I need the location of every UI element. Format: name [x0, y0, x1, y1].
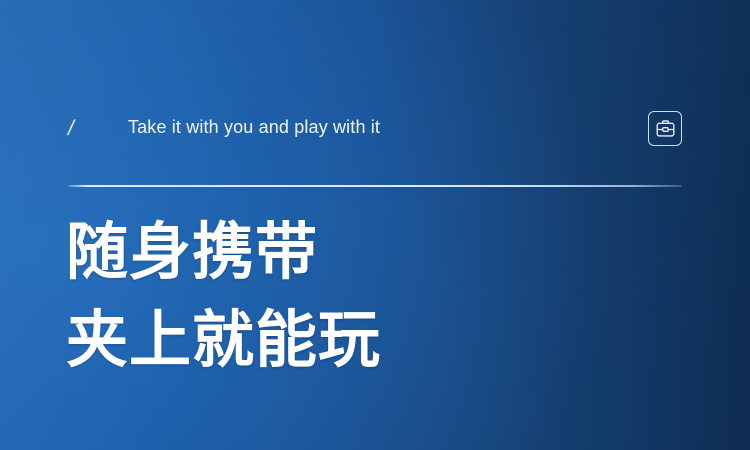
- headline-block: 随身携带 夹上就能玩: [66, 208, 706, 384]
- briefcase-icon: [655, 119, 676, 138]
- briefcase-icon-badge: [648, 111, 682, 146]
- slash-divider-mark: /: [68, 118, 84, 139]
- headline-line-2: 夹上就能玩: [66, 296, 706, 384]
- horizontal-divider: [68, 185, 682, 187]
- eyebrow-tagline: Take it with you and play with it: [128, 117, 380, 139]
- eyebrow-row: / Take it with you and play with it: [68, 104, 682, 152]
- banner-content: / Take it with you and play with it: [0, 0, 750, 450]
- headline-line-1: 随身携带: [66, 208, 706, 296]
- promo-banner: / Take it with you and play with it: [0, 0, 750, 450]
